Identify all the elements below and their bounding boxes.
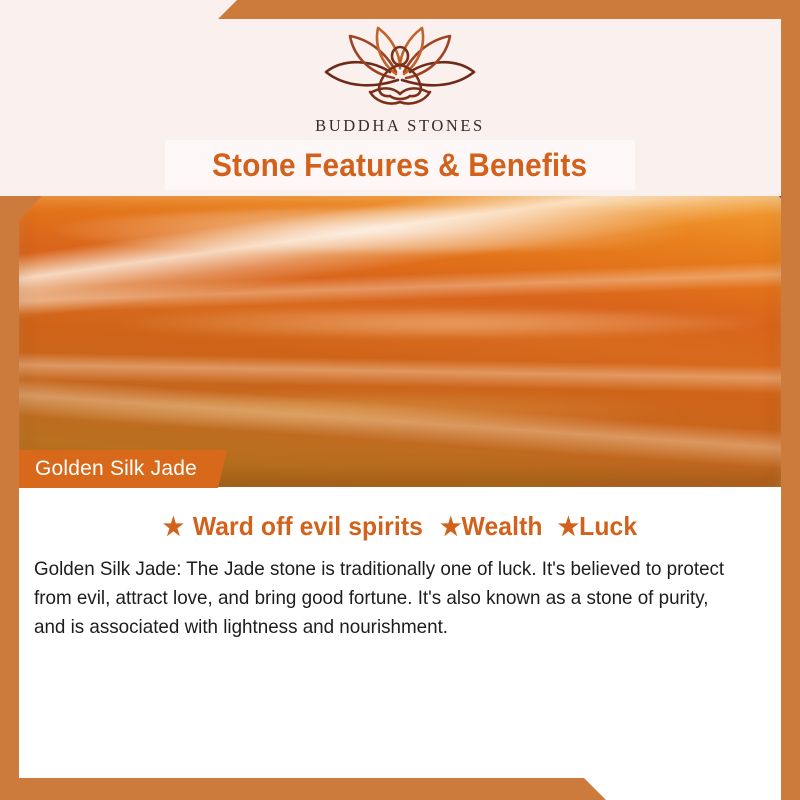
stone-name-label: Golden Silk Jade [35,457,197,481]
lotus-meditation-icon [310,22,490,114]
infographic-page: BUDDHA STONES Stone Features & Benefits … [0,0,800,800]
stone-highlight [52,208,752,252]
benefits-row: ★Ward off evil spirits★Wealth★Luck [20,511,780,542]
star-icon: ★ [558,513,579,541]
right-frame-bar [781,0,800,800]
benefit-label: Wealth [461,511,542,541]
page-title: Stone Features & Benefits [212,147,587,184]
star-icon: ★ [163,513,184,541]
star-icon: ★ [440,513,461,541]
stone-silk-band-1 [82,310,762,336]
top-right-frame-bar [218,0,800,19]
brand-logo: BUDDHA STONES [0,22,800,136]
jade-stone-object [12,196,788,487]
left-frame-bar [0,196,19,800]
benefit-item: ★Wealth [440,511,542,542]
stone-silk-band-2 [42,395,782,425]
title-plate: Stone Features & Benefits [165,140,635,190]
bottom-left-frame-bar [0,778,606,800]
stone-description: Golden Silk Jade: The Jade stone is trad… [34,555,744,642]
page-header: BUDDHA STONES Stone Features & Benefits [0,0,800,196]
stone-photo [0,196,800,487]
benefit-item: ★Ward off evil spirits [163,511,423,542]
content-area: ★Ward off evil spirits★Wealth★Luck Golde… [0,487,800,800]
benefit-label: Luck [579,511,637,541]
benefit-label: Ward off evil spirits [193,511,423,541]
brand-name: BUDDHA STONES [0,116,800,136]
benefit-item: ★Luck [558,511,637,542]
stone-name-banner: Golden Silk Jade [19,450,227,488]
